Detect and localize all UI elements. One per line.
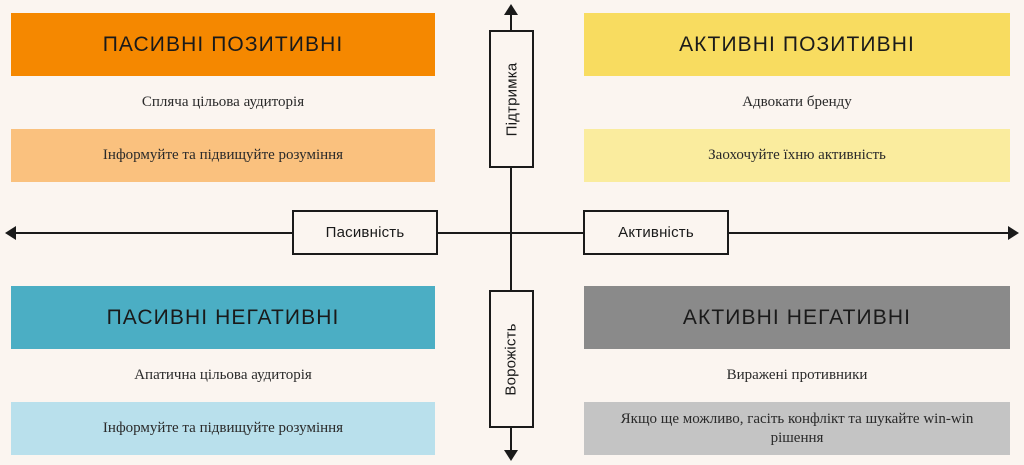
- arrow-right-icon: [1008, 226, 1019, 240]
- arrow-down-icon: [504, 450, 518, 461]
- quadrant-active-positive: АКТИВНІ ПОЗИТИВНІ Адвокати бренду Заохоч…: [584, 13, 1010, 182]
- axis-label-hostility-text: Ворожість: [503, 323, 520, 395]
- quadrant-active-negative: АКТИВНІ НЕГАТИВНІ Виражені противники Як…: [584, 286, 1010, 455]
- quadrant-action: Якщо ще можливо, гасіть конфлікт та шука…: [584, 402, 1010, 455]
- axis-label-hostility: Ворожість: [489, 290, 534, 428]
- quadrant-title: ПАСИВНІ ПОЗИТИВНІ: [11, 13, 435, 76]
- quadrant-passive-negative: ПАСИВНІ НЕГАТИВНІ Апатична цільова аудит…: [11, 286, 435, 455]
- axis-label-activity-text: Активність: [618, 224, 694, 241]
- quadrant-title: ПАСИВНІ НЕГАТИВНІ: [11, 286, 435, 349]
- quadrant-title: АКТИВНІ ПОЗИТИВНІ: [584, 13, 1010, 76]
- quadrant-action: Інформуйте та підвищуйте розуміння: [11, 129, 435, 182]
- quadrant-action: Заохочуйте їхню активність: [584, 129, 1010, 182]
- stakeholder-matrix-diagram: Пасивність Активність Підтримка Ворожіст…: [0, 0, 1024, 465]
- quadrant-audience: Апатична цільова аудиторія: [11, 349, 435, 402]
- quadrant-passive-positive: ПАСИВНІ ПОЗИТИВНІ Спляча цільова аудитор…: [11, 13, 435, 182]
- arrow-up-icon: [504, 4, 518, 15]
- quadrant-title: АКТИВНІ НЕГАТИВНІ: [584, 286, 1010, 349]
- axis-label-activity: Активність: [583, 210, 729, 255]
- quadrant-audience: Спляча цільова аудиторія: [11, 76, 435, 129]
- axis-label-support-text: Підтримка: [503, 62, 520, 136]
- axis-label-passivity-text: Пасивність: [326, 224, 405, 241]
- axis-label-passivity: Пасивність: [292, 210, 438, 255]
- horizontal-axis-line: [14, 232, 1010, 234]
- quadrant-action: Інформуйте та підвищуйте розуміння: [11, 402, 435, 455]
- axis-label-support: Підтримка: [489, 30, 534, 168]
- arrow-left-icon: [5, 226, 16, 240]
- quadrant-audience: Адвокати бренду: [584, 76, 1010, 129]
- quadrant-audience: Виражені противники: [584, 349, 1010, 402]
